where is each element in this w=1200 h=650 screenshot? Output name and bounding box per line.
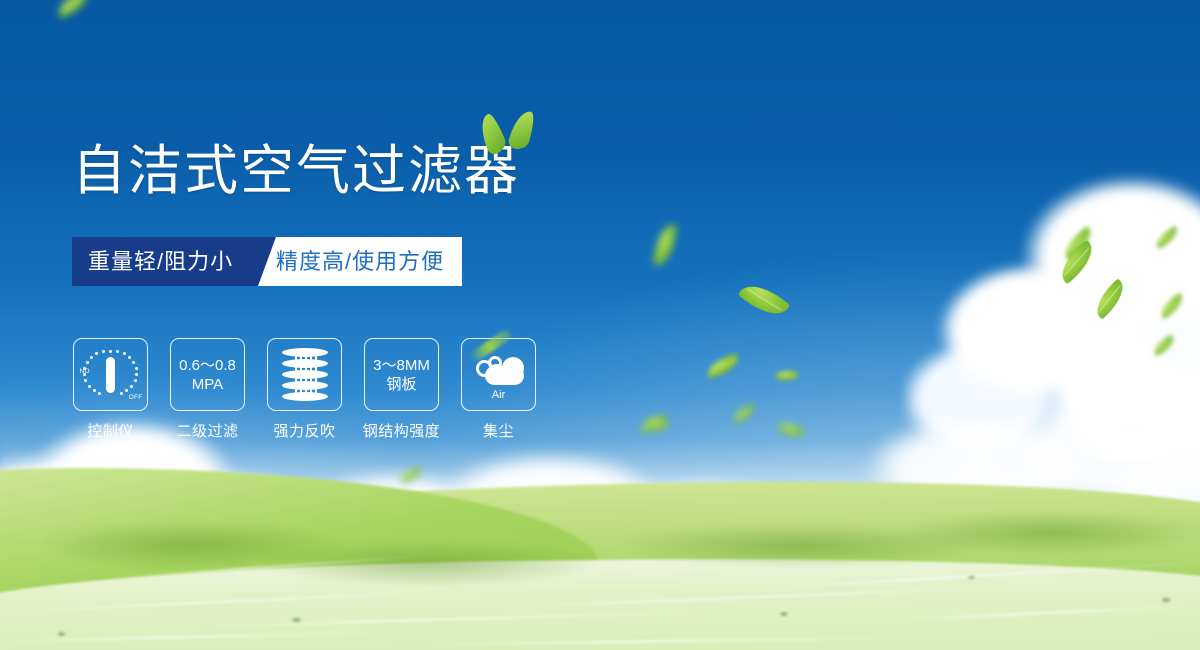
feature-item-steel-strength[interactable]: 3～8MM 钢板 钢结构强度 <box>363 338 440 441</box>
pressure-value-text: 0.6～0.8 <box>179 356 236 375</box>
feature-label: 集尘 <box>483 420 514 441</box>
feature-label: 钢结构强度 <box>363 420 441 441</box>
feature-label: 控制仪 <box>87 420 134 441</box>
grass-speck <box>292 618 301 622</box>
grass-field <box>0 0 1200 650</box>
grass-speck <box>968 576 975 579</box>
feature-icon-box: 3～8MM 钢板 <box>364 338 439 411</box>
feature-item-dust-collection[interactable]: Air 集尘 <box>460 338 537 441</box>
air-label: Air <box>472 389 526 401</box>
feature-item-controller[interactable]: NO OFF 控制仪 <box>72 338 149 441</box>
grass-speck <box>780 612 788 616</box>
grass-speck <box>1162 598 1170 602</box>
filter-coil-icon <box>282 348 328 402</box>
grass-speck <box>58 632 65 636</box>
subtitle-right-text: 精度高/使用方便 <box>276 237 444 286</box>
feature-item-secondary-filter[interactable]: 0.6～0.8 MPA 二级过滤 <box>169 338 246 441</box>
subtitle-bar: 重量轻/阻力小 精度高/使用方便 <box>72 237 462 286</box>
gauge-label-no: NO <box>80 368 90 375</box>
subtitle-left-text: 重量轻/阻力小 <box>88 237 233 286</box>
grass-texture <box>900 512 1200 554</box>
feature-icon-box: Air <box>461 338 536 411</box>
feature-list: NO OFF 控制仪 0.6～0.8 MPA 二级过滤 <box>72 338 537 441</box>
feature-icon-box: 0.6～0.8 MPA <box>170 338 245 411</box>
feature-label: 强力反吹 <box>273 420 335 441</box>
sprout-leaf-right-icon <box>507 108 537 152</box>
feature-label: 二级过滤 <box>176 420 238 441</box>
gauge-label-off: OFF <box>129 394 143 401</box>
air-cloud-icon: Air <box>472 352 526 398</box>
gauge-needle <box>106 357 115 393</box>
gauge-icon: NO OFF <box>80 346 142 404</box>
feature-icon-box <box>267 338 342 411</box>
feature-item-strong-blowback[interactable]: 强力反吹 <box>266 338 343 441</box>
steel-thickness-text: 3～8MM <box>373 356 430 375</box>
cloud-puff <box>488 364 506 382</box>
sprout-leaf-left-icon <box>475 112 509 157</box>
title-block: 自洁式空气过滤器 <box>72 140 520 202</box>
product-banner: 自洁式空气过滤器 重量轻/阻力小 精度高/使用方便 <box>0 0 1200 650</box>
sprout-leaves-decoration <box>476 108 546 154</box>
feature-icon-box: NO OFF <box>73 338 148 411</box>
steel-plate-text: 钢板 <box>386 375 416 394</box>
page-title: 自洁式空气过滤器 <box>72 140 520 202</box>
pressure-unit-text: MPA <box>192 375 223 394</box>
